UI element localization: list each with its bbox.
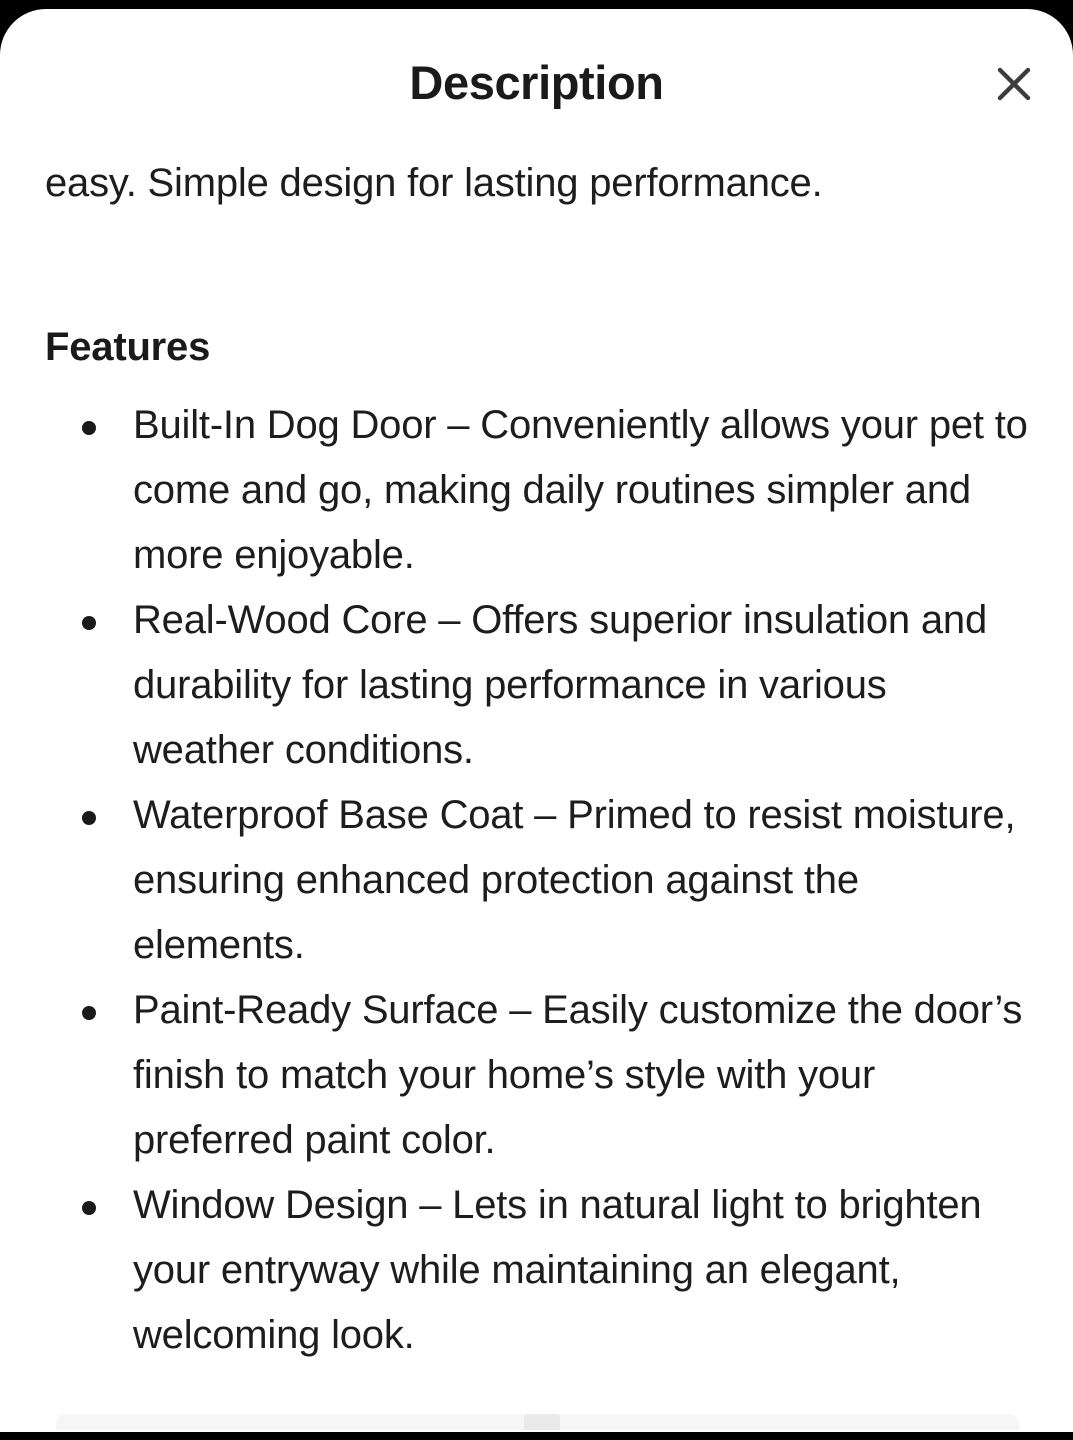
features-list: Built-In Dog Door – Conveniently allows …: [45, 371, 1031, 1368]
modal-header: Description: [0, 9, 1073, 137]
partially-visible-bottom-element: [0, 1410, 1073, 1432]
list-item-text: Real-Wood Core – Offers superior insulat…: [133, 598, 987, 772]
close-button[interactable]: [987, 57, 1041, 111]
list-item: Paint-Ready Surface – Easily customize t…: [45, 978, 1031, 1173]
bottom-sheet-chip: [524, 1414, 560, 1430]
bullet-icon: [82, 1006, 96, 1020]
bullet-icon: [82, 811, 96, 825]
intro-paragraph: easy. Simple design for lasting performa…: [45, 137, 1031, 215]
bullet-icon: [82, 616, 96, 630]
bottom-sheet-edge: [56, 1414, 1019, 1430]
device-top-bar: [0, 0, 1073, 9]
list-item: Waterproof Base Coat – Primed to resist …: [45, 783, 1031, 978]
list-item-text: Built-In Dog Door – Conveniently allows …: [133, 403, 1028, 577]
list-item: Built-In Dog Door – Conveniently allows …: [45, 393, 1031, 588]
page-title: Description: [0, 55, 1073, 111]
list-item-text: Waterproof Base Coat – Primed to resist …: [133, 793, 1015, 967]
description-modal-sheet: Description easy. Simple design for last…: [0, 9, 1073, 1432]
close-icon: [992, 62, 1036, 106]
modal-body: easy. Simple design for lasting performa…: [0, 137, 1073, 1368]
list-item-text: Window Design – Lets in natural light to…: [133, 1183, 981, 1357]
list-item-text: Paint-Ready Surface – Easily customize t…: [133, 988, 1022, 1162]
bullet-icon: [82, 421, 96, 435]
device-frame: Description easy. Simple design for last…: [0, 0, 1073, 1440]
list-item: Window Design – Lets in natural light to…: [45, 1173, 1031, 1368]
list-item: Real-Wood Core – Offers superior insulat…: [45, 588, 1031, 783]
bullet-icon: [82, 1201, 96, 1215]
device-bottom-bar: [0, 1432, 1073, 1440]
features-heading: Features: [45, 215, 1031, 371]
